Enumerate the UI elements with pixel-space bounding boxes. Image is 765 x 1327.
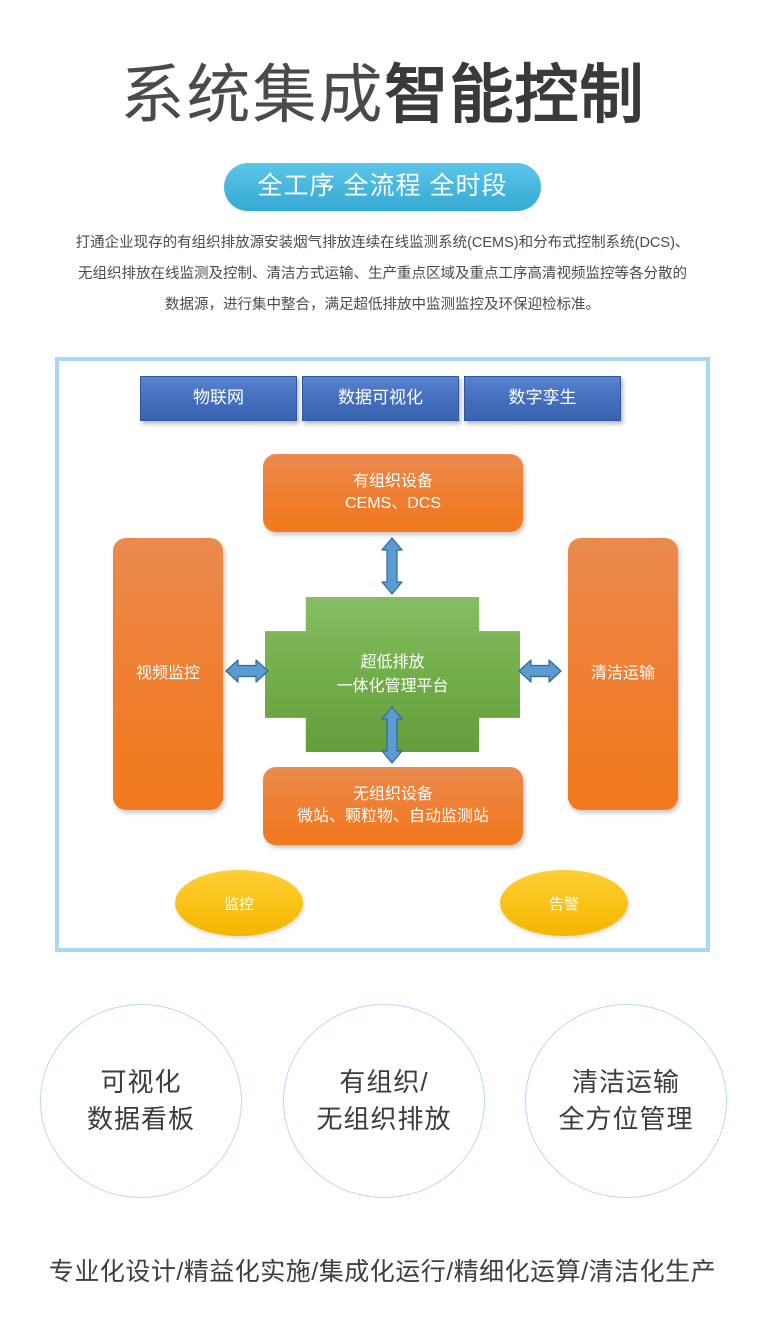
arrow-up-down-bottom-icon [380,706,404,764]
feature-circle-visualization-line-1: 可视化 [100,1064,181,1101]
arrow-left-right-right-icon [518,658,562,684]
diagram-node-clean-transport-label: 清洁运输 [591,663,655,685]
feature-circle-visualization-line-2: 数据看板 [87,1101,195,1138]
diagram-ellipse-monitoring-label: 监控 [224,893,254,914]
diagram-ellipse-alarm: 告警 [500,870,628,936]
page-title: 系统集成智能控制 [0,55,765,135]
diagram-node-digital-twin-label: 数字孪生 [509,387,577,410]
description-line-3: 数据源，进行集中整合，满足超低排放中监测监控及环保迎检标准。 [60,290,705,321]
description-line-2: 无组织排放在线监测及控制、清洁方式运输、生产重点区域及重点工序高清视频监控等各分… [60,259,705,290]
unorganized-equipment-line-2: 微站、颗粒物、自动监测站 [297,806,489,828]
diagram-node-iot: 物联网 [140,376,297,421]
feature-circle-clean-transport-line-1: 清洁运输 [572,1064,680,1101]
architecture-diagram: 物联网 数据可视化 数字孪生 有组织设备 CEMS、DCS 无组织设备 微站、颗… [55,357,710,952]
feature-circle-clean-transport-line-2: 全方位管理 [558,1101,693,1138]
diagram-node-iot-label: 物联网 [193,387,244,410]
feature-circle-emissions-line-1: 有组织/ [339,1064,428,1101]
arrow-up-down-top-icon [380,537,404,595]
feature-circle-clean-transport: 清洁运输 全方位管理 [525,1004,727,1198]
diagram-node-data-visualization: 数据可视化 [302,376,459,421]
feature-circle-emissions-line-2: 无组织排放 [316,1101,451,1138]
feature-circle-visualization: 可视化 数据看板 [40,1004,242,1198]
diagram-node-video-monitoring: 视频监控 [113,538,223,810]
diagram-ellipse-alarm-label: 告警 [549,893,579,914]
description-block: 打通企业现存的有组织排放源安装烟气排放连续在线监测系统(CEMS)和分布式控制系… [60,228,705,321]
page-root: 系统集成智能控制 全工序 全流程 全时段 打通企业现存的有组织排放源安装烟气排放… [0,0,765,1327]
organized-equipment-line-1: 有组织设备 [345,471,441,493]
organized-equipment-line-2: CEMS、DCS [345,493,441,515]
diagram-node-organized-equipment: 有组织设备 CEMS、DCS [263,454,523,532]
arrow-left-right-left-icon [225,658,269,684]
feature-circle-emissions: 有组织/ 无组织排放 [283,1004,485,1198]
diagram-node-data-visualization-label: 数据可视化 [338,387,423,410]
page-title-bold: 智能控制 [385,59,645,131]
unorganized-equipment-line-1: 无组织设备 [297,784,489,806]
page-title-light: 系统集成 [121,59,385,131]
diagram-node-digital-twin: 数字孪生 [464,376,621,421]
diagram-node-clean-transport: 清洁运输 [568,538,678,810]
diagram-node-video-monitoring-label: 视频监控 [136,663,200,685]
diagram-node-unorganized-equipment: 无组织设备 微站、颗粒物、自动监测站 [263,767,523,845]
footer-tagline: 专业化设计/精益化实施/集成化运行/精细化运算/清洁化生产 [0,1255,765,1289]
description-line-1: 打通企业现存的有组织排放源安装烟气排放连续在线监测系统(CEMS)和分布式控制系… [60,228,705,259]
subtitle-badge: 全工序 全流程 全时段 [224,163,542,211]
diagram-ellipse-monitoring: 监控 [175,870,303,936]
